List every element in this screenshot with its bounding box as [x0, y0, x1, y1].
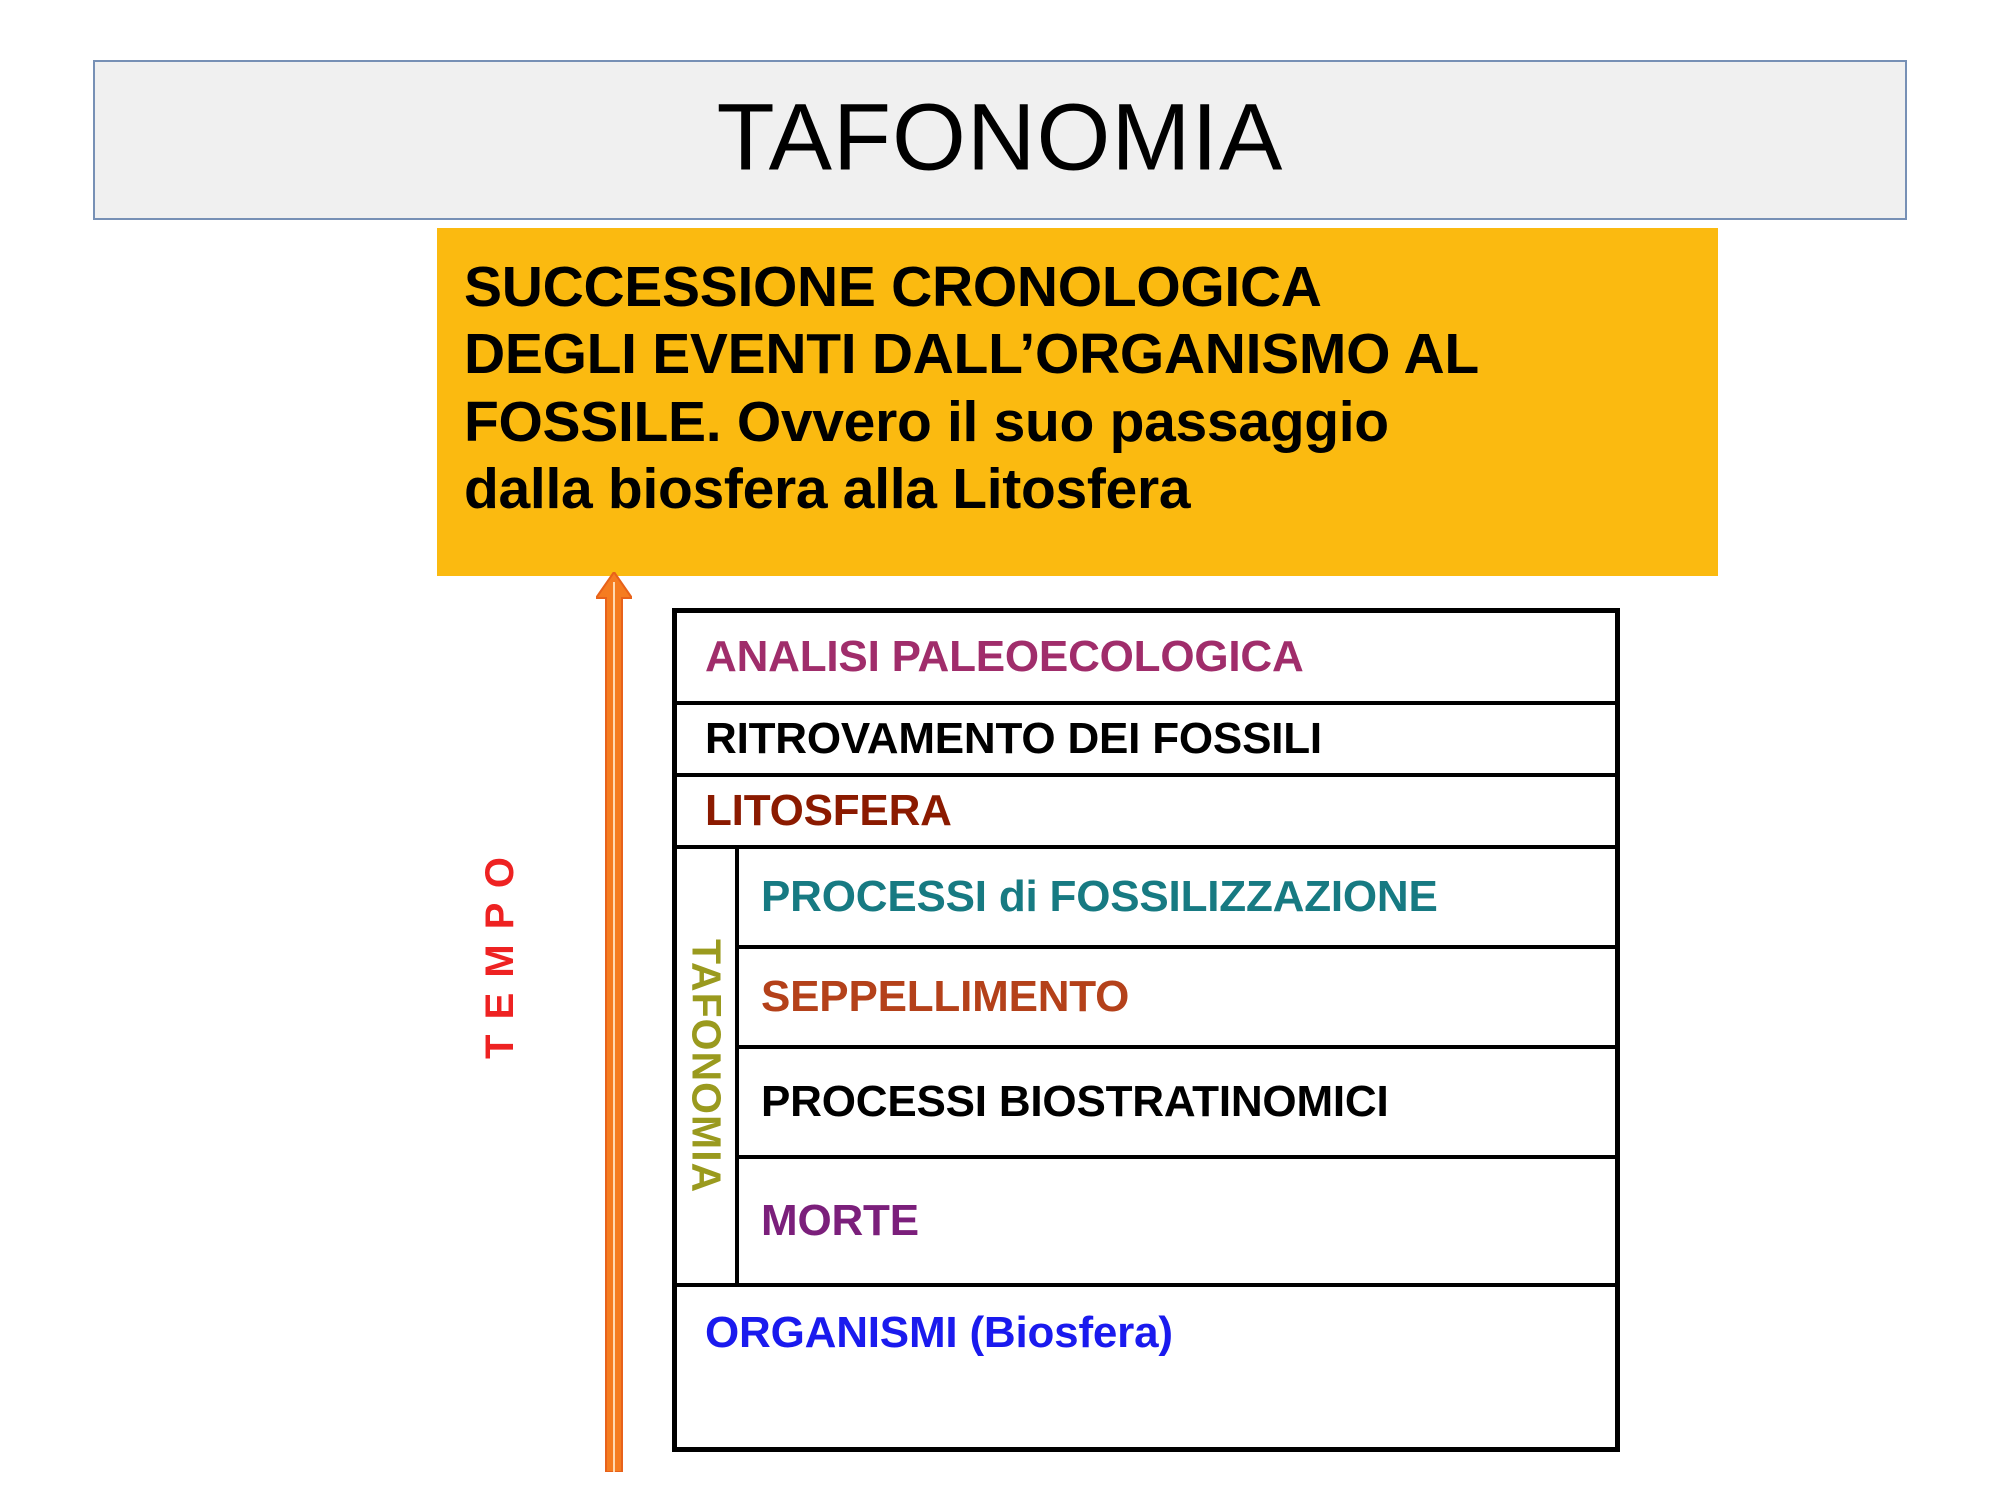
time-axis-label: T E M P O: [478, 855, 538, 1059]
table-row: ANALISI PALEOECOLOGICA: [677, 613, 1615, 705]
row-label-analisi-paleoecologica: ANALISI PALEOECOLOGICA: [705, 635, 1304, 679]
taphonomy-group-sidebar: TAFONOMIA: [677, 849, 739, 1283]
row-label-morte: MORTE: [761, 1199, 919, 1243]
taphonomy-group-rows: PROCESSI di FOSSILIZZAZIONE SEPPELLIMENT…: [739, 849, 1615, 1283]
time-arrow-icon: [596, 572, 632, 1472]
title-banner: TAFONOMIA: [93, 60, 1907, 220]
page-title: TAFONOMIA: [95, 91, 1905, 186]
row-label-organismi-biosfera: ORGANISMI (Biosfera): [705, 1311, 1173, 1355]
table-row: ORGANISMI (Biosfera): [677, 1287, 1615, 1379]
row-label-seppellimento: SEPPELLIMENTO: [761, 975, 1129, 1019]
table-row: RITROVAMENTO DEI FOSSILI: [677, 705, 1615, 777]
taphonomy-stack-table: ANALISI PALEOECOLOGICA RITROVAMENTO DEI …: [672, 608, 1620, 1452]
callout-text: SUCCESSIONE CRONOLOGICA DEGLI EVENTI DAL…: [464, 254, 1718, 523]
row-label-ritrovamento-dei-fossili: RITROVAMENTO DEI FOSSILI: [705, 717, 1322, 761]
table-row: MORTE: [739, 1159, 1615, 1283]
row-label-litosfera: LITOSFERA: [705, 789, 952, 833]
table-row: PROCESSI BIOSTRATINOMICI: [739, 1049, 1615, 1159]
table-row: PROCESSI di FOSSILIZZAZIONE: [739, 849, 1615, 949]
taphonomy-group-label: TAFONOMIA: [683, 939, 730, 1193]
row-label-processi-biostratinomici: PROCESSI BIOSTRATINOMICI: [761, 1080, 1389, 1124]
table-row: SEPPELLIMENTO: [739, 949, 1615, 1049]
table-row: LITOSFERA: [677, 777, 1615, 849]
row-label-processi-di-fossilizzazione: PROCESSI di FOSSILIZZAZIONE: [761, 875, 1438, 919]
taphonomy-group: TAFONOMIA PROCESSI di FOSSILIZZAZIONE SE…: [677, 849, 1615, 1287]
callout-box: SUCCESSIONE CRONOLOGICA DEGLI EVENTI DAL…: [437, 228, 1718, 576]
